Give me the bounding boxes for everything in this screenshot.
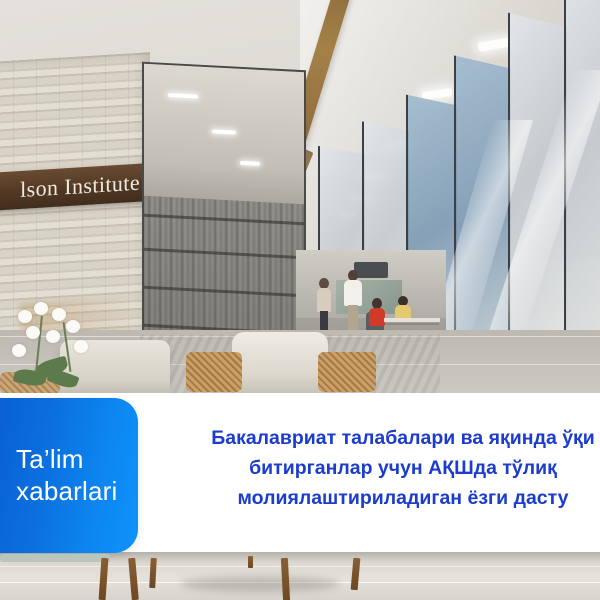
person-body	[369, 308, 385, 326]
headline-line-3: молиялаштириладиган ёзги дасту	[168, 484, 600, 514]
news-card: lson Institute	[0, 0, 600, 600]
orchid-bloom	[52, 308, 66, 321]
person-body	[317, 288, 331, 312]
category-badge-label: Ta’lim xabarlari	[16, 444, 118, 507]
lower-photo-strip	[0, 552, 600, 600]
category-badge[interactable]: Ta’lim xabarlari	[0, 398, 138, 553]
armchair-center	[232, 332, 328, 394]
rattan-chair-arm	[318, 352, 376, 392]
orchid-bloom	[46, 330, 60, 343]
rattan-chair-arm	[186, 352, 242, 392]
floor-seam	[0, 566, 600, 567]
orchid-leaf	[47, 367, 80, 390]
furniture-shadow	[180, 576, 340, 592]
orchid-bloom	[34, 302, 48, 315]
orchid-bloom	[18, 310, 32, 323]
table-leg	[99, 558, 109, 600]
orchid-bloom	[26, 326, 40, 339]
table-leg	[248, 556, 253, 568]
glass-table-top	[0, 554, 110, 562]
person-body	[344, 280, 362, 306]
orchid-plant	[8, 300, 96, 390]
headline-line-2: битирганлар учун АҚШда тўлиқ	[168, 454, 600, 484]
table-leg	[281, 558, 290, 600]
headline-line-1: Бакалавриат талабалари ва яқинда ўқи	[168, 424, 600, 454]
institute-sign-text: lson Institute	[20, 169, 150, 203]
table-leg	[149, 558, 157, 588]
library-ceiling	[144, 64, 304, 211]
table-leg	[351, 558, 361, 590]
orchid-bloom	[66, 320, 80, 333]
headline: Бакалавриат талабалари ва яқинда ўқи бит…	[168, 424, 600, 513]
person-standing-man	[344, 270, 362, 336]
person-standing-woman	[316, 278, 332, 334]
table-leg	[128, 558, 139, 600]
office-desk	[384, 318, 440, 322]
orchid-bloom	[74, 340, 88, 353]
orchid-bloom	[12, 344, 26, 357]
